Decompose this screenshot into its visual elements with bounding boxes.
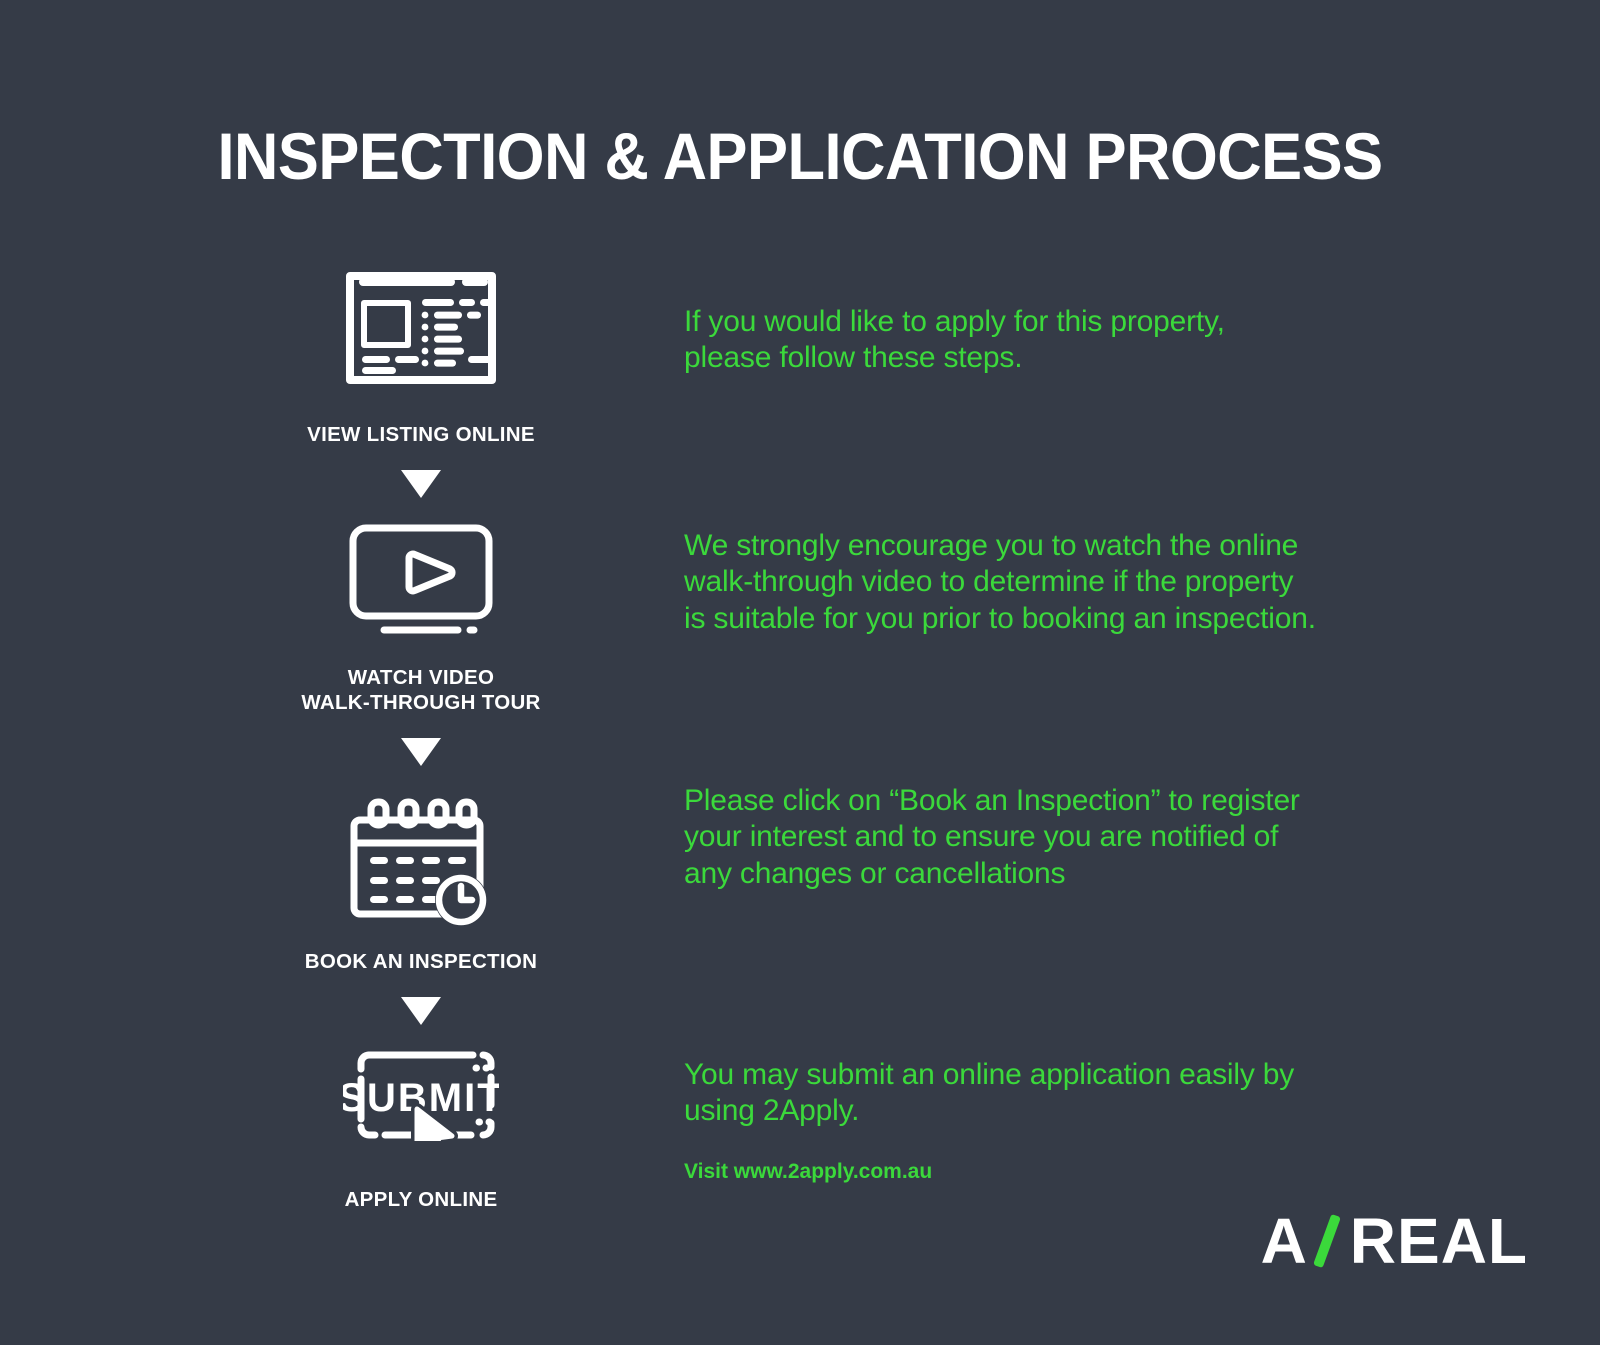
arrow-down-icon-3 — [401, 997, 441, 1025]
logo-slash-icon — [1313, 1214, 1341, 1268]
copy-block-3: Please click on “Book an Inspection” to … — [684, 783, 1444, 892]
step-book-inspection: BOOK AN INSPECTION — [245, 786, 597, 975]
visit-url-text[interactable]: Visit www.2apply.com.au — [684, 1160, 932, 1184]
submit-button-cursor-icon: SUBMIT — [343, 1045, 499, 1145]
step-label-2: WATCH VIDEO WALK-THROUGH TOUR — [301, 665, 540, 716]
logo-word-real: REAL — [1350, 1209, 1528, 1273]
browser-listing-icon — [346, 258, 496, 398]
video-play-monitor-icon — [346, 518, 496, 643]
steps-column: VIEW LISTING ONLINE WATCH VIDEO WALK-THR… — [245, 258, 597, 1212]
logo-letter-a: A — [1261, 1209, 1308, 1273]
step-apply-online: SUBMIT APPLY ONLINE — [245, 1045, 597, 1213]
copy-block-2: We strongly encourage you to watch the o… — [684, 528, 1444, 637]
step-label-4: APPLY ONLINE — [345, 1187, 498, 1213]
infographic-poster: INSPECTION & APPLICATION PROCESS — [0, 0, 1600, 1345]
calendar-clock-icon — [346, 786, 496, 931]
arrow-down-icon-1 — [401, 470, 441, 498]
step-watch-video: WATCH VIDEO WALK-THROUGH TOUR — [245, 518, 597, 716]
step-label-1: VIEW LISTING ONLINE — [307, 422, 535, 448]
brand-logo: A REAL — [1261, 1209, 1528, 1273]
step-view-listing-online: VIEW LISTING ONLINE — [245, 258, 597, 448]
copy-block-4: You may submit an online application eas… — [684, 1057, 1444, 1130]
arrow-down-icon-2 — [401, 738, 441, 766]
copy-block-1: If you would like to apply for this prop… — [684, 304, 1444, 377]
step-label-3: BOOK AN INSPECTION — [305, 949, 537, 975]
page-title: INSPECTION & APPLICATION PROCESS — [56, 118, 1544, 194]
